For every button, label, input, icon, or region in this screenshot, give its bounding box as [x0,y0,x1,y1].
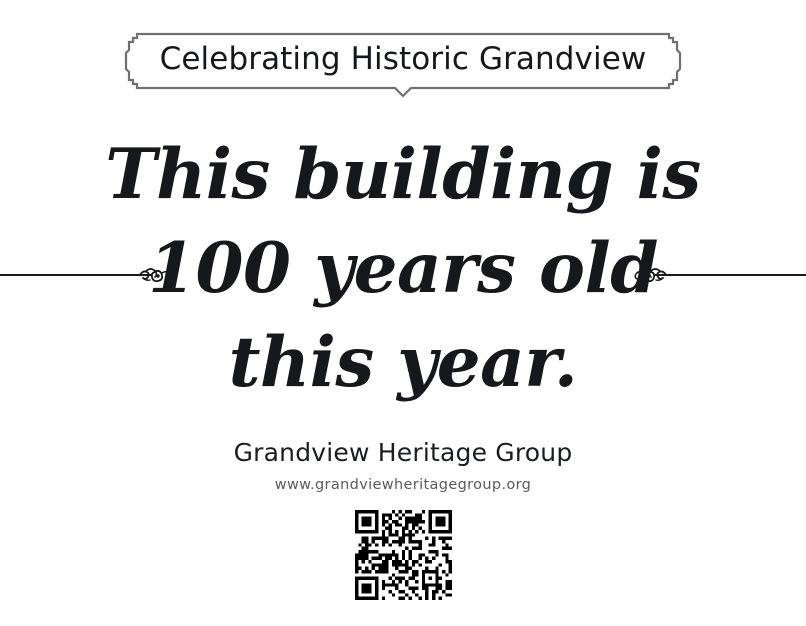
qr-code-container [0,510,806,600]
banner-container: Celebrating Historic Grandview [0,30,806,100]
headline-line-3: this year. [0,316,806,410]
poster-canvas: Celebrating Historic Grandview [0,0,806,626]
qr-code[interactable] [355,510,452,600]
headline-line-2: 100 years old [0,222,806,316]
headline: This building is 100 years old this year… [0,128,806,410]
organization-name: Grandview Heritage Group [0,438,806,467]
banner-label: Celebrating Historic Grandview [123,30,683,88]
celebration-banner: Celebrating Historic Grandview [123,30,683,92]
organization-website: www.grandviewheritagegroup.org [0,477,806,493]
headline-line-1: This building is [0,128,806,222]
